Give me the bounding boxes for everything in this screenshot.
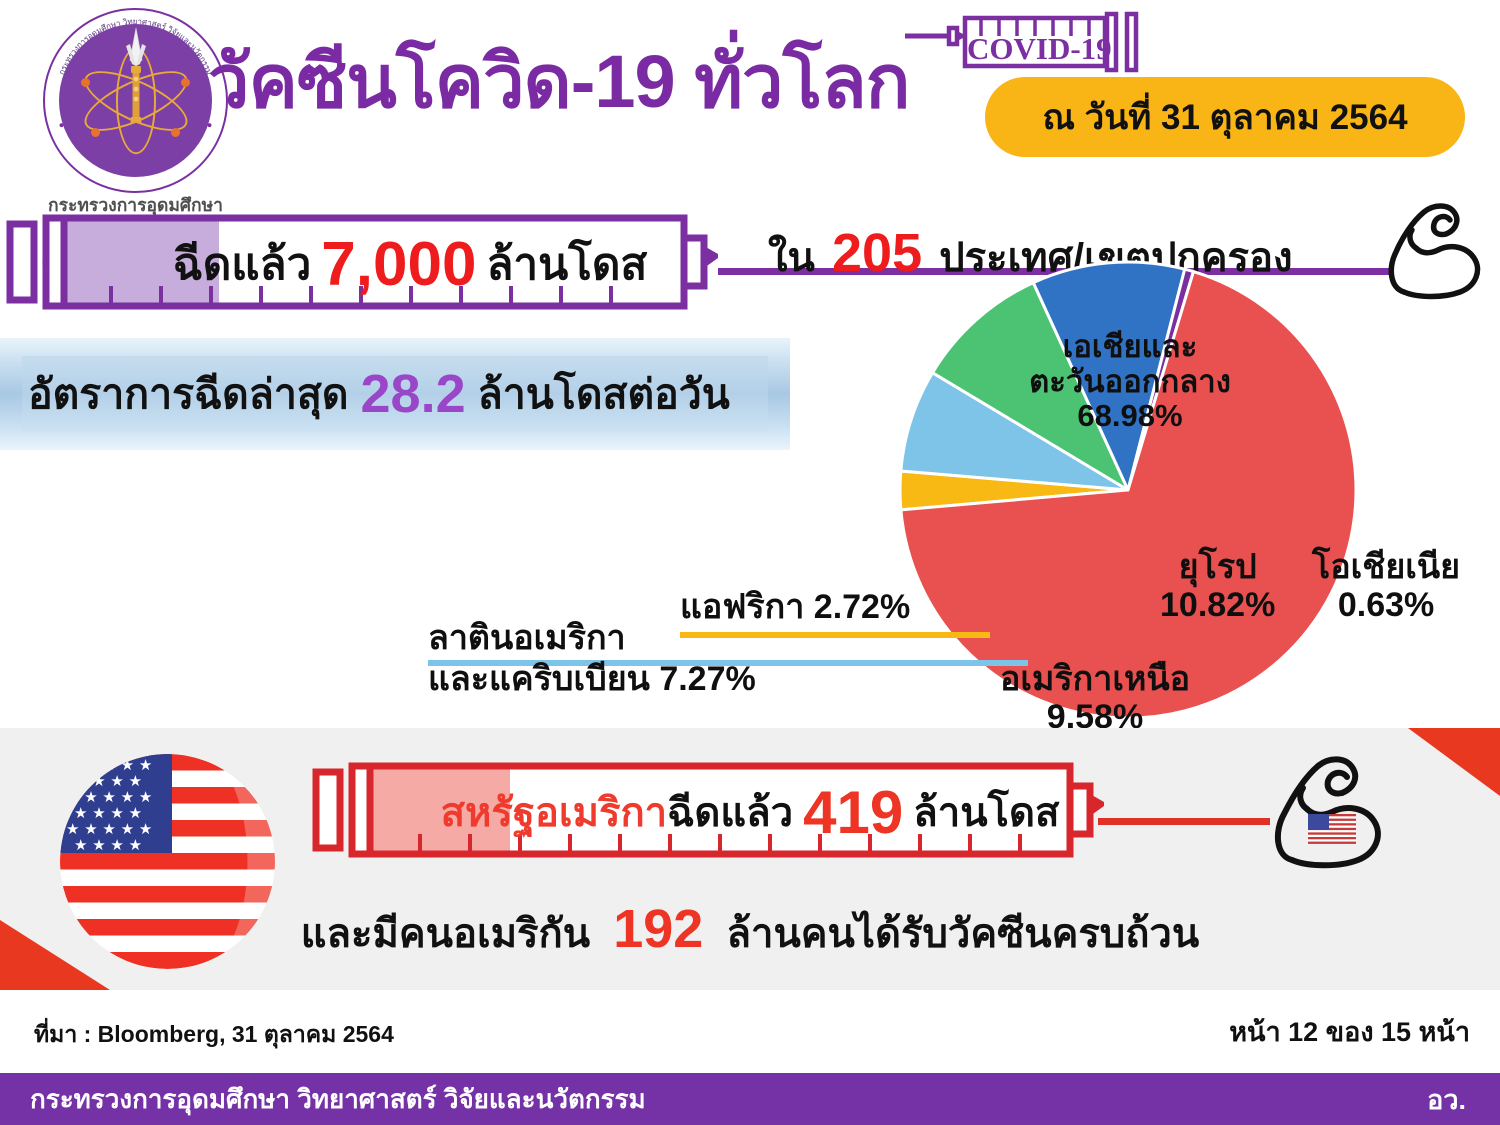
global-doses-value: 7,000 — [311, 229, 486, 300]
pie-label-asia-line1: เอเชียและ — [1010, 330, 1250, 365]
usa-syringe-needle-line — [1098, 818, 1270, 825]
pie-label-latin-america-line2: และแคริบเบียน 7.27% — [428, 659, 756, 700]
seal-torch-icon — [123, 26, 149, 130]
pie-label-latin-america-line1: ลาตินอเมริกา — [428, 618, 756, 659]
footer-abbreviation: อว. — [1427, 1078, 1466, 1121]
pie-label-asia-line2: ตะวันออกกลาง — [1010, 365, 1250, 400]
usa-doses-prefix: ฉีดแล้ว — [667, 780, 793, 844]
global-doses-suffix: ล้านโดส — [486, 229, 647, 299]
countries-prefix: ใน — [768, 236, 815, 280]
footer-ministry-name: กระทรวงการอุดมศึกษา วิทยาศาสตร์ วิจัยและ… — [30, 1079, 646, 1120]
global-doses-prefix: ฉีดแล้ว — [173, 229, 312, 299]
pie-label-latin-america: ลาตินอเมริกา และแคริบเบียน 7.27% — [428, 618, 756, 700]
covid-syringe-icon: COVID-19 — [905, 6, 1150, 84]
mhesi-seal-logo: กระทรวงการอุดมศึกษา วิทยาศาสตร์ วิจัยและ… — [43, 8, 228, 193]
corner-triangle-top-right — [1408, 728, 1500, 796]
pie-label-europe-value: 10.82% — [1160, 586, 1275, 624]
fully-vaccinated-suffix: ล้านคนได้รับวัคซีนครบถ้วน — [726, 912, 1199, 956]
fully-vaccinated-label: และมีคนอเมริกัน 192 ล้านคนได้รับวัคซีนคร… — [0, 898, 1500, 965]
global-doses-label: ฉีดแล้ว 7,000 ล้านโดส — [110, 224, 710, 304]
pie-label-asia-value: 68.98% — [1010, 399, 1250, 434]
infographic-canvas: กระทรวงการอุดมศึกษา วิทยาศาสตร์ วิจัยและ… — [0, 0, 1500, 1125]
usa-country-name: สหรัฐอเมริกา — [441, 780, 668, 844]
page-title: วัคซีนโควิด-19 ทั่วโลก — [208, 22, 909, 140]
daily-rate-prefix: อัตราการฉีดล่าสุด — [28, 362, 349, 427]
page-number: หน้า 12 ของ 15 หน้า — [1229, 1010, 1470, 1053]
pie-label-north-america-name: อเมริกาเหนือ — [975, 660, 1215, 698]
report-date-badge: ณ วันที่ 31 ตุลาคม 2564 — [985, 77, 1465, 157]
fully-vaccinated-prefix: และมีคนอเมริกัน — [301, 912, 590, 956]
flexed-arm-icon — [1378, 196, 1488, 306]
usa-doses-value: 419 — [793, 778, 913, 847]
pie-label-asia: เอเชียและ ตะวันออกกลาง 68.98% — [1010, 330, 1250, 434]
usa-doses-label: สหรัฐอเมริกา ฉีดแล้ว 419 ล้านโดส — [420, 772, 1080, 852]
footer-bar: กระทรวงการอุดมศึกษา วิทยาศาสตร์ วิจัยและ… — [0, 1073, 1500, 1125]
usa-doses-suffix: ล้านโดส — [913, 780, 1059, 844]
arm-flag-patch — [1308, 814, 1356, 844]
pie-label-europe-name: ยุโรป — [1160, 548, 1275, 586]
pie-label-oceania: โอเชียเนีย 0.63% — [1312, 548, 1460, 624]
daily-rate-value: 28.2 — [349, 363, 478, 425]
covid-badge-label: COVID-19 — [967, 31, 1112, 66]
daily-rate-suffix: ล้านโดสต่อวัน — [478, 362, 730, 427]
pie-label-north-america: อเมริกาเหนือ 9.58% — [975, 660, 1215, 736]
pie-label-oceania-value: 0.63% — [1312, 586, 1460, 624]
daily-rate-banner: อัตราการฉีดล่าสุด 28.2 ล้านโดสต่อวัน — [0, 338, 790, 450]
fully-vaccinated-value: 192 — [601, 899, 715, 959]
pie-label-europe: ยุโรป 10.82% — [1160, 548, 1275, 624]
flexed-arm-us-flag-icon — [1262, 748, 1392, 878]
svg-text:★ ★ ★ ★: ★ ★ ★ ★ — [74, 836, 142, 854]
report-date-text: ณ วันที่ 31 ตุลาคม 2564 — [1042, 90, 1407, 145]
pie-label-oceania-name: โอเชียเนีย — [1312, 548, 1460, 586]
daily-rate-text: อัตราการฉีดล่าสุด 28.2 ล้านโดสต่อวัน — [0, 338, 790, 450]
source-note: ที่มา : Bloomberg, 31 ตุลาคม 2564 — [34, 1017, 394, 1053]
